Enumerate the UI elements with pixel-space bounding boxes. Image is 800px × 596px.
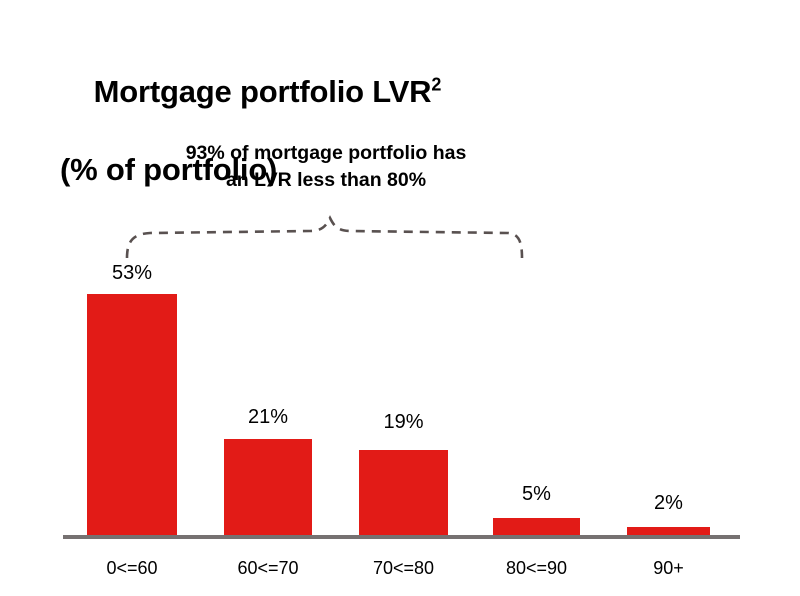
category-label-4: 90+ bbox=[627, 558, 710, 579]
category-label-1: 60<=70 bbox=[224, 558, 312, 579]
bar-chart-plot-area: 53% 0<=60 21% 60<=70 19% 70<=80 5% 80<=9… bbox=[0, 0, 800, 596]
bar-2[interactable] bbox=[359, 450, 448, 537]
x-axis-line bbox=[63, 535, 740, 539]
bar-value-4: 2% bbox=[627, 492, 710, 515]
bar-0[interactable] bbox=[87, 294, 177, 537]
bar-value-1: 21% bbox=[224, 406, 312, 429]
bar-1[interactable] bbox=[224, 439, 312, 537]
slide-canvas: Mortgage portfolio LVR2 (% of portfolio)… bbox=[0, 0, 800, 596]
category-label-0: 0<=60 bbox=[87, 558, 177, 579]
category-label-3: 80<=90 bbox=[493, 558, 580, 579]
bar-value-2: 19% bbox=[359, 411, 448, 434]
category-label-2: 70<=80 bbox=[359, 558, 448, 579]
bar-value-3: 5% bbox=[493, 483, 580, 506]
bar-value-0: 53% bbox=[87, 262, 177, 285]
